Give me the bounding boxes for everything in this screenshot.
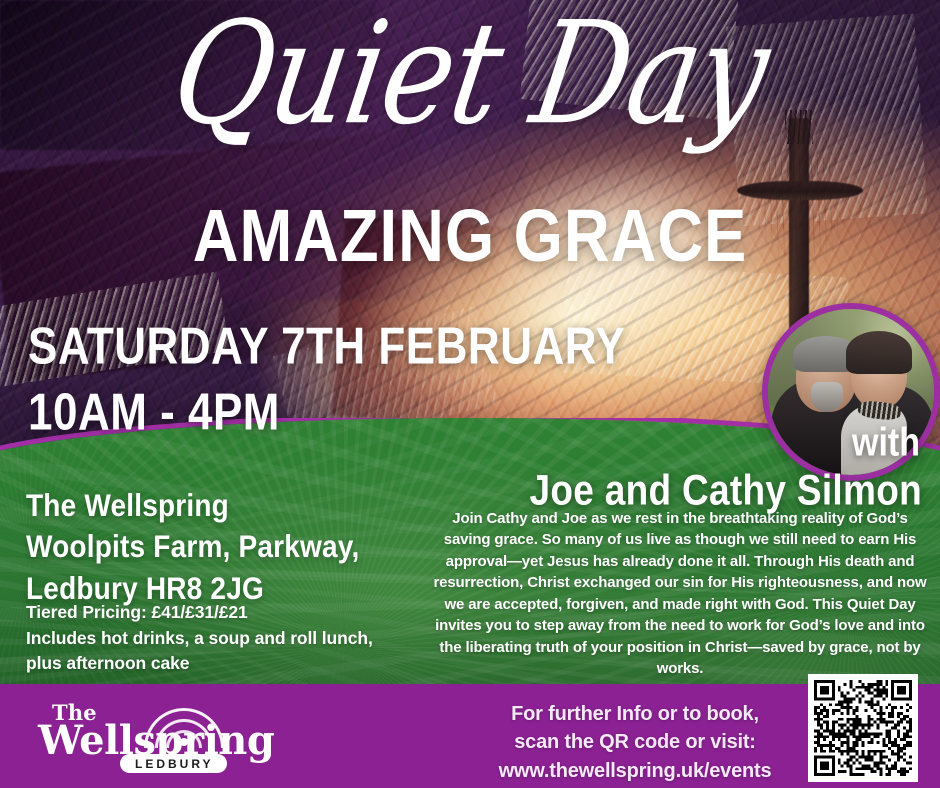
event-date: SATURDAY 7TH FEBRUARY xyxy=(28,315,625,378)
event-description: Join Cathy and Joe as we rest in the bre… xyxy=(430,508,930,680)
logo-location-badge: LEDBURY xyxy=(120,754,227,773)
event-datetime: SATURDAY 7TH FEBRUARY 10AM - 4PM xyxy=(28,315,625,444)
pricing-tiers: Tiered Pricing: £41/£31/£21 xyxy=(26,600,373,626)
event-poster: Quiet Day AMAZING GRACE SATURDAY 7TH FEB… xyxy=(0,0,940,788)
venue-address: The Wellspring Woolpits Farm, Parkway, L… xyxy=(26,485,359,609)
speaker-names: Joe and Cathy Silmon xyxy=(529,466,922,515)
venue-line-1: The Wellspring xyxy=(26,485,359,526)
qr-grid xyxy=(814,680,912,776)
qr-code-icon[interactable] xyxy=(808,674,918,782)
page-title-main: AMAZING GRACE xyxy=(19,198,921,272)
pricing-includes-2: plus afternoon cake xyxy=(26,651,373,677)
wellspring-logo: The Wellspring LEDBURY xyxy=(36,702,266,778)
event-time: 10AM - 4PM xyxy=(28,381,625,444)
cta-line-1: For further Info or to book, xyxy=(470,700,800,728)
pricing-includes-1: Includes hot drinks, a soup and roll lun… xyxy=(26,626,373,652)
speaker-with-label: with xyxy=(852,420,920,466)
cta-line-2: scan the QR code or visit: xyxy=(470,728,800,756)
venue-line-2: Woolpits Farm, Parkway, xyxy=(26,526,359,567)
booking-cta: For further Info or to book, scan the QR… xyxy=(470,700,800,785)
qr-canvas xyxy=(814,680,912,776)
cta-website-url[interactable]: www.thewellspring.uk/events xyxy=(470,757,800,785)
page-title-script: Quiet Day xyxy=(0,1,940,150)
pricing-details: Tiered Pricing: £41/£31/£21 Includes hot… xyxy=(26,600,373,677)
